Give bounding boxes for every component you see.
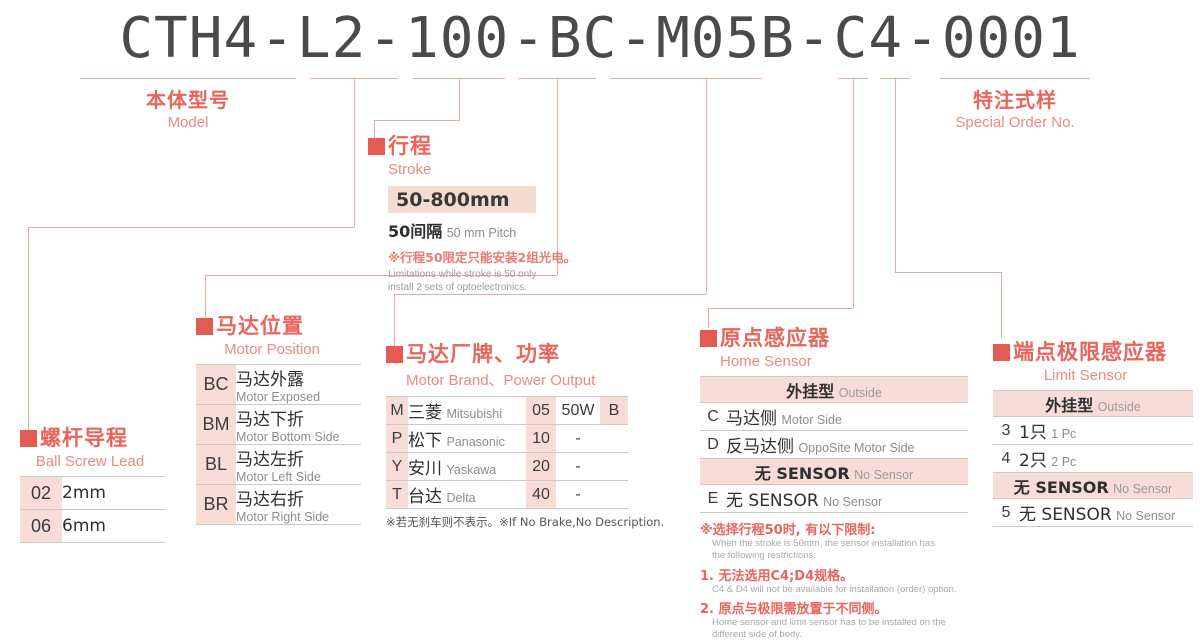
- ball-screw-lead-title-cn: 螺杆导程: [40, 426, 128, 450]
- code-segment-motor-brand-power: M05B: [656, 6, 795, 71]
- motorpos-value-0: 马达外露 Motor Exposed: [236, 365, 361, 405]
- stroke-note-cn: ※行程50限定只能安装2组光电。: [388, 247, 576, 266]
- bullet-square-icon: [386, 346, 403, 363]
- motorpos-en-1: Motor Bottom Side: [236, 430, 361, 444]
- brand-code-1: P: [386, 425, 408, 453]
- leader-lead-v1: [354, 78, 355, 227]
- home-note-item1-cn: 1. 无法选用C4;D4规格。: [700, 565, 982, 584]
- home-value-0: 马达侧 Motor Side: [726, 403, 968, 431]
- brand-name-2: 安川 Yaskawa: [408, 453, 526, 481]
- section-motor-brand-power: 马达厂牌、功率 Motor Brand、Power Output M 三菱 Mi…: [386, 338, 664, 530]
- table-row[interactable]: 4 2只 2 Pc: [993, 445, 1193, 473]
- home-sensor-group1-cn: 外挂型: [786, 382, 834, 401]
- brake-code-3: [600, 481, 628, 509]
- brand-code-3: T: [386, 481, 408, 509]
- leader-stroke-h: [374, 120, 460, 121]
- home-note-item2-en-1: Home sensor and limit sensor has to be i…: [712, 617, 982, 629]
- power-value-1: -: [556, 425, 600, 453]
- code-segment-sensors: C4: [834, 6, 903, 71]
- stroke-pitch-cn: 50间隔: [388, 222, 442, 241]
- stroke-pitch-en: 50 mm Pitch: [447, 226, 516, 240]
- table-row[interactable]: BM 马达下折 Motor Bottom Side: [196, 405, 361, 445]
- home-sensor-group2-band: 无 SENSOR No Sensor: [700, 459, 968, 485]
- label-model: 本体型号 Model: [88, 84, 288, 131]
- stroke-note-en-line1: Limitations while stroke is 50 only: [388, 269, 576, 282]
- table-row[interactable]: BL 马达左折 Motor Left Side: [196, 445, 361, 485]
- motor-brand-table: M 三菱 Mitsubishi 05 50W B P 松下 Panasonic …: [386, 396, 628, 509]
- code-segment-model: CTH4: [119, 6, 258, 71]
- section-motor-position: 马达位置 Motor Position BC 马达外露 Motor Expose…: [196, 310, 361, 525]
- label-special-order-en: Special Order No.: [935, 114, 1095, 131]
- lead-value-0: 2mm: [62, 477, 165, 510]
- motor-brand-title-en: Motor Brand、Power Output: [406, 369, 664, 390]
- power-code-1: 10: [526, 425, 556, 453]
- home-en-0: Motor Side: [781, 413, 841, 427]
- power-code-2: 20: [526, 453, 556, 481]
- limit-en-1: 2 Pc: [1051, 455, 1076, 469]
- code-segment-lead: L2: [297, 6, 366, 71]
- limit-cn-1: 2只: [1019, 451, 1047, 471]
- brand-en-3: Delta: [446, 491, 475, 505]
- brand-cn-0: 三菱: [408, 403, 442, 423]
- table-row[interactable]: 02 2mm: [20, 477, 165, 510]
- brand-code-2: Y: [386, 453, 408, 481]
- power-code-3: 40: [526, 481, 556, 509]
- limit-sensor-heading: 端点极限感应器: [993, 336, 1193, 366]
- home-value-1: 反马达侧 OppoSite Motor Side: [726, 431, 968, 459]
- table-row[interactable]: 06 6mm: [20, 510, 165, 543]
- brand-cn-1: 松下: [408, 431, 442, 451]
- home-sensor-table: 外挂型 Outside C 马达侧 Motor Side D 反马达侧 Oppo…: [700, 376, 968, 513]
- power-value-2: -: [556, 453, 600, 481]
- label-special-order-cn: 特注式样: [935, 84, 1095, 113]
- underline-special-order: [940, 78, 1090, 79]
- lead-value-cn-0: 2mm: [62, 483, 106, 503]
- ball-screw-lead-heading: 螺杆导程: [20, 422, 165, 452]
- stroke-note-en-line2: install 2 sets of optoelectronics.: [388, 282, 576, 295]
- motorpos-cn-3: 马达右折: [236, 485, 361, 510]
- limit-sensor-group2-header: 无 SENSOR No Sensor: [993, 473, 1193, 499]
- power-code-0: 05: [526, 397, 556, 425]
- section-home-sensor: 原点感应器 Home Sensor 外挂型 Outside C 马达侧 Moto…: [700, 322, 982, 642]
- limit-value-1: 2只 2 Pc: [1019, 445, 1193, 473]
- code-dash: -: [509, 6, 548, 71]
- limit-value-0: 1只 1 Pc: [1019, 417, 1193, 445]
- motor-position-table: BC 马达外露 Motor Exposed BM 马达下折 Motor Bott…: [196, 364, 361, 525]
- home-note-head-cn: ※选择行程50时, 有以下限制:: [700, 519, 982, 538]
- motorpos-en-2: Motor Left Side: [236, 470, 361, 484]
- home-sensor-group1-header: 外挂型 Outside: [700, 377, 968, 403]
- underline-model: [80, 78, 296, 79]
- home-note-item2-en-2: different side of body.: [712, 629, 982, 641]
- table-row[interactable]: BR 马达右折 Motor Right Side: [196, 485, 361, 525]
- section-limit-sensor: 端点极限感应器 Limit Sensor 外挂型 Outside 3 1只 1 …: [993, 336, 1193, 527]
- limit-sensor-group1-cn: 外挂型: [1045, 396, 1093, 415]
- home-sensor-title-en: Home Sensor: [720, 353, 982, 370]
- motor-position-heading: 马达位置: [196, 310, 361, 340]
- home-note-head-en-2: the following restrictions:: [712, 550, 982, 562]
- motorpos-code-1: BM: [196, 405, 236, 445]
- limit-sensor-table: 外挂型 Outside 3 1只 1 Pc 4 2只 2 Pc 无 SENSOR…: [993, 390, 1193, 527]
- section-stroke: 行程 Stroke 50-800mm 50间隔 50 mm Pitch ※行程5…: [368, 130, 576, 295]
- code-dash: -: [617, 6, 656, 71]
- table-row[interactable]: C 马达侧 Motor Side: [700, 403, 968, 431]
- label-model-cn: 本体型号: [88, 84, 288, 113]
- limit-sensor-group2-cn: 无 SENSOR: [1014, 478, 1109, 497]
- product-code: CTH4-L2-100-BC-M05B-C4-0001: [0, 6, 1200, 71]
- motorpos-cn-2: 马达左折: [236, 445, 361, 470]
- home-code-2: E: [700, 485, 726, 513]
- stroke-title-en: Stroke: [388, 161, 576, 178]
- stroke-heading: 行程: [368, 130, 576, 160]
- home-en-2: No Sensor: [823, 495, 882, 509]
- limit-sensor-group1-en: Outside: [1098, 400, 1141, 414]
- table-row[interactable]: 3 1只 1 Pc: [993, 417, 1193, 445]
- home-code-0: C: [700, 403, 726, 431]
- limit-sensor-title-cn: 端点极限感应器: [1013, 340, 1167, 364]
- motor-brand-heading: 马达厂牌、功率: [386, 338, 664, 368]
- table-row[interactable]: Y 安川 Yaskawa 20 -: [386, 453, 628, 481]
- bullet-square-icon: [700, 330, 717, 347]
- brand-name-1: 松下 Panasonic: [408, 425, 526, 453]
- home-value-2: 无 SENSOR No Sensor: [726, 485, 968, 513]
- limit-en-2: No Sensor: [1116, 509, 1175, 523]
- limit-sensor-group1-header: 外挂型 Outside: [993, 391, 1193, 417]
- brand-name-0: 三菱 Mitsubishi: [408, 397, 526, 425]
- ball-screw-lead-table: 02 2mm 06 6mm: [20, 476, 165, 543]
- code-segment-special-order: 0001: [942, 6, 1081, 71]
- brand-en-2: Yaskawa: [446, 463, 496, 477]
- leader-lead-h: [28, 227, 354, 228]
- motorpos-cn-1: 马达下折: [236, 405, 361, 430]
- bullet-square-icon: [20, 430, 37, 447]
- home-sensor-notes: ※选择行程50时, 有以下限制: When the stroke is 50mm…: [700, 519, 982, 642]
- motorpos-code-0: BC: [196, 365, 236, 405]
- motorpos-value-1: 马达下折 Motor Bottom Side: [236, 405, 361, 445]
- table-row[interactable]: BC 马达外露 Motor Exposed: [196, 365, 361, 405]
- home-sensor-group1-band: 外挂型 Outside: [700, 377, 968, 403]
- code-dash: -: [795, 6, 834, 71]
- brand-cn-2: 安川: [408, 459, 442, 479]
- home-code-1: D: [700, 431, 726, 459]
- motorpos-value-2: 马达左折 Motor Left Side: [236, 445, 361, 485]
- brake-code-2: [600, 453, 628, 481]
- home-sensor-group1-en: Outside: [839, 386, 882, 400]
- limit-code-0: 3: [993, 417, 1019, 445]
- code-dash: -: [903, 6, 942, 71]
- label-model-en: Model: [88, 114, 288, 131]
- code-segment-motor-position: BC: [548, 6, 617, 71]
- limit-sensor-group2-en: No Sensor: [1113, 482, 1172, 496]
- brand-name-3: 台达 Delta: [408, 481, 526, 509]
- limit-en-0: 1 Pc: [1051, 427, 1076, 441]
- stroke-title-cn: 行程: [388, 134, 432, 158]
- limit-sensor-title-en: Limit Sensor: [993, 367, 1178, 384]
- home-sensor-group2-cn: 无 SENSOR: [755, 464, 850, 483]
- stroke-range-band: 50-800mm: [388, 186, 536, 213]
- limit-sensor-group1-band: 外挂型 Outside: [993, 391, 1193, 417]
- home-note-item1-en: C4 & D4 will not be available for instal…: [712, 584, 982, 596]
- home-en-1: OppoSite Motor Side: [798, 441, 914, 455]
- power-value-3: -: [556, 481, 600, 509]
- code-dash: -: [366, 6, 405, 71]
- leader-lead-v2: [28, 227, 29, 430]
- motorpos-en-3: Motor Right Side: [236, 510, 361, 524]
- limit-value-2: 无 SENSOR No Sensor: [1019, 499, 1193, 527]
- section-ball-screw-lead: 螺杆导程 Ball Screw Lead 02 2mm 06 6mm: [20, 422, 165, 543]
- leader-limitsensor-v1: [895, 78, 896, 272]
- table-row[interactable]: E 无 SENSOR No Sensor: [700, 485, 968, 513]
- motorpos-cn-0: 马达外露: [236, 365, 361, 390]
- bullet-square-icon: [368, 138, 385, 155]
- lead-value-cn-1: 6mm: [62, 516, 106, 536]
- home-sensor-title-cn: 原点感应器: [720, 326, 830, 350]
- limit-sensor-group2-band: 无 SENSOR No Sensor: [993, 473, 1193, 499]
- leader-stroke-v1: [459, 78, 460, 120]
- home-cn-2: 无 SENSOR: [726, 491, 819, 511]
- motorpos-value-3: 马达右折 Motor Right Side: [236, 485, 361, 525]
- motor-position-title-cn: 马达位置: [216, 314, 304, 338]
- motor-brand-title-cn: 马达厂牌、功率: [406, 342, 560, 366]
- table-row[interactable]: M 三菱 Mitsubishi 05 50W B: [386, 397, 628, 425]
- home-sensor-group2-en: No Sensor: [854, 468, 913, 482]
- home-cn-1: 反马达侧: [726, 437, 794, 457]
- motorpos-code-2: BL: [196, 445, 236, 485]
- table-row[interactable]: D 反马达侧 OppoSite Motor Side: [700, 431, 968, 459]
- stroke-pitch: 50间隔 50 mm Pitch: [388, 218, 576, 242]
- limit-cn-0: 1只: [1019, 423, 1047, 443]
- leader-homesensor-v1: [853, 78, 854, 308]
- power-value-0: 50W: [556, 397, 600, 425]
- home-cn-0: 马达侧: [726, 409, 777, 429]
- bullet-square-icon: [196, 318, 213, 335]
- leader-motorbrand-v1: [706, 78, 707, 294]
- home-sensor-heading: 原点感应器: [700, 322, 982, 352]
- brake-code-0: B: [600, 397, 628, 425]
- home-sensor-group2-header: 无 SENSOR No Sensor: [700, 459, 968, 485]
- bullet-square-icon: [993, 344, 1010, 361]
- ball-screw-lead-title-en: Ball Screw Lead: [20, 453, 160, 470]
- brand-en-1: Panasonic: [446, 435, 504, 449]
- brand-code-0: M: [386, 397, 408, 425]
- brake-note: ※若无刹车则不表示。※If No Brake,No Description.: [386, 514, 664, 530]
- limit-code-2: 5: [993, 499, 1019, 527]
- leader-homesensor-h: [708, 308, 853, 309]
- lead-value-1: 6mm: [62, 510, 165, 543]
- leader-limitsensor-v2: [1001, 272, 1002, 338]
- underline-motor-brand: [610, 78, 762, 79]
- table-row[interactable]: P 松下 Panasonic 10 -: [386, 425, 628, 453]
- motor-position-title-en: Motor Position: [196, 341, 348, 358]
- code-dash: -: [258, 6, 297, 71]
- brake-code-1: [600, 425, 628, 453]
- leader-limitsensor-h: [895, 272, 1001, 273]
- stroke-note-en: Limitations while stroke is 50 only inst…: [388, 269, 576, 295]
- motorpos-code-3: BR: [196, 485, 236, 525]
- lead-code-0: 02: [20, 477, 62, 510]
- brand-cn-3: 台达: [408, 487, 442, 507]
- brand-en-0: Mitsubishi: [446, 407, 502, 421]
- table-row[interactable]: T 台达 Delta 40 -: [386, 481, 628, 509]
- label-special-order: 特注式样 Special Order No.: [935, 84, 1095, 131]
- home-note-head-en-1: When the stroke is 50mm, the sensor inst…: [712, 538, 982, 550]
- stroke-range-value: 50-800mm: [396, 189, 510, 211]
- limit-code-1: 4: [993, 445, 1019, 473]
- code-segment-stroke: 100: [405, 6, 509, 71]
- lead-code-1: 06: [20, 510, 62, 543]
- table-row[interactable]: 5 无 SENSOR No Sensor: [993, 499, 1193, 527]
- limit-cn-2: 无 SENSOR: [1019, 505, 1112, 525]
- motorpos-en-0: Motor Exposed: [236, 390, 361, 404]
